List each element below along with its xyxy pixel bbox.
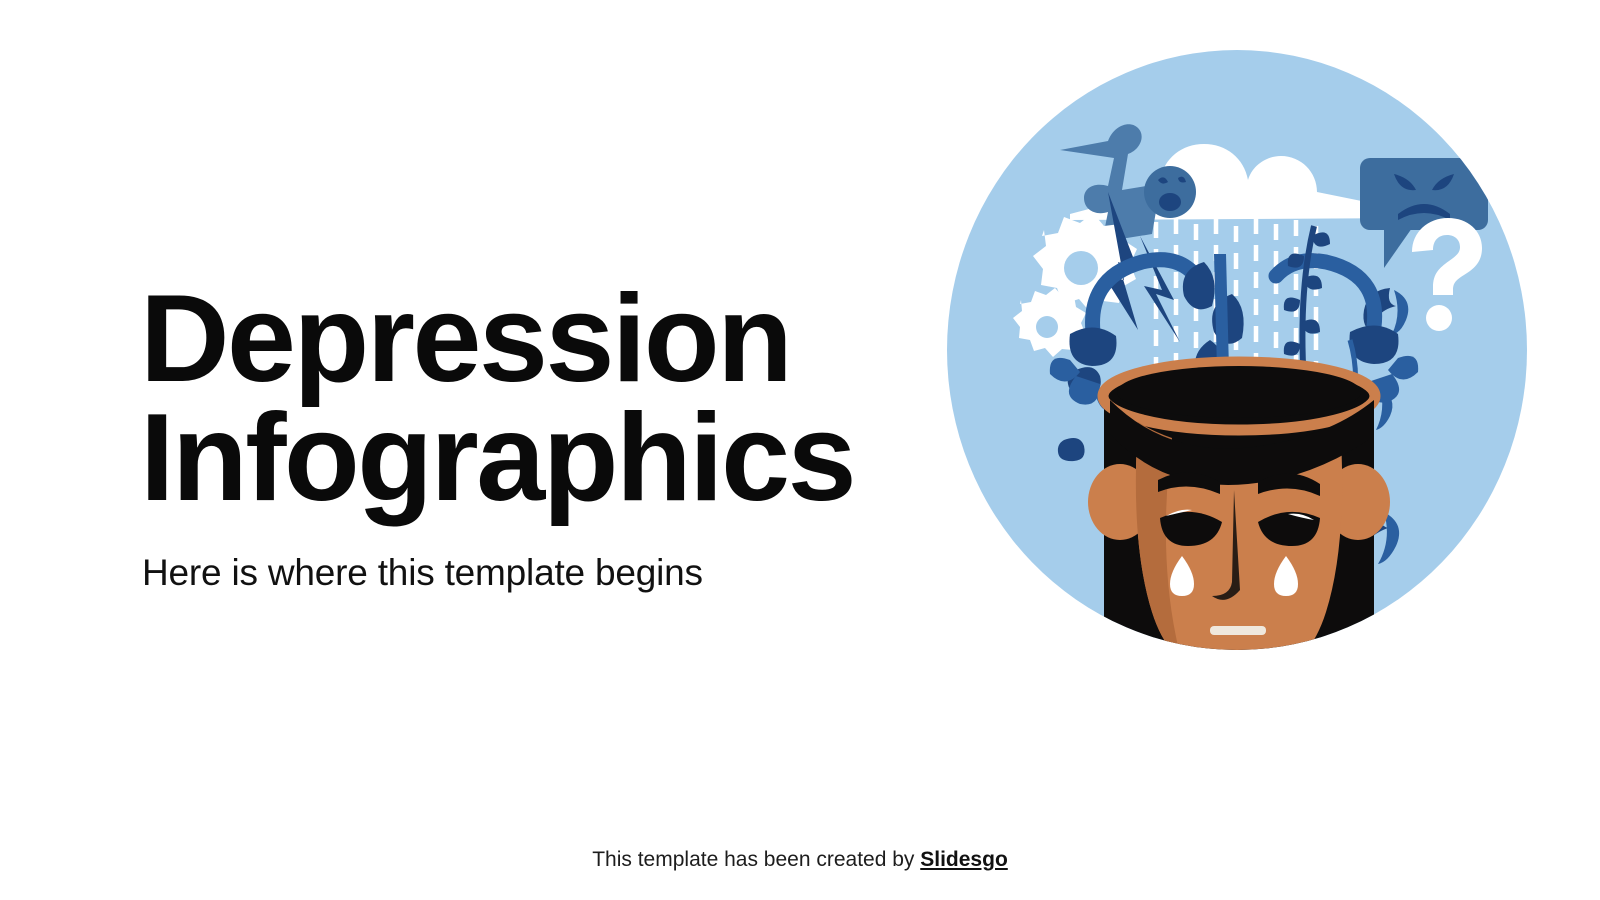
neck bbox=[1184, 730, 1296, 811]
illustration-svg bbox=[942, 40, 1562, 830]
depression-illustration bbox=[942, 40, 1562, 830]
shirt-shadow bbox=[1020, 696, 1184, 830]
slidesgo-link[interactable]: Slidesgo bbox=[920, 848, 1008, 871]
shouting-face-icon bbox=[1144, 166, 1196, 218]
shirt bbox=[1020, 696, 1460, 830]
title-block: Depression Infographics Here is where th… bbox=[140, 280, 900, 594]
footer-credit: This template has been created by Slides… bbox=[0, 848, 1600, 872]
page-title: Depression Infographics bbox=[140, 280, 900, 518]
slide-canvas: Depression Infographics Here is where th… bbox=[0, 0, 1600, 900]
page-subtitle: Here is where this template begins bbox=[142, 552, 900, 594]
mouth bbox=[1210, 626, 1266, 635]
footer-prefix-text: This template has been created by bbox=[592, 848, 920, 871]
